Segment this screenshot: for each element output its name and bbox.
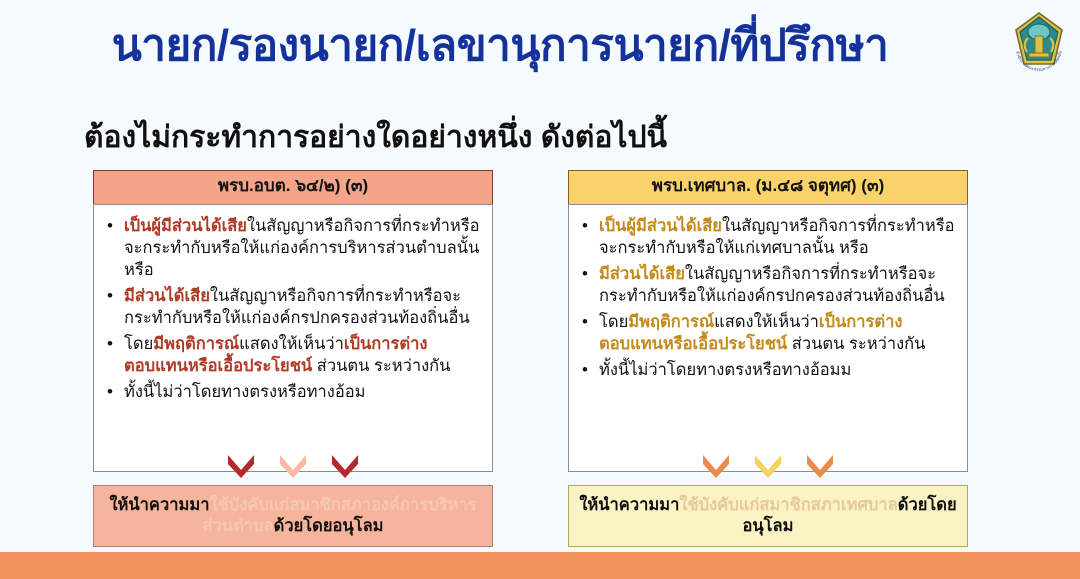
chevron-down-icon bbox=[805, 452, 835, 478]
chevron-group-right bbox=[568, 450, 968, 480]
list-item: มีส่วนได้เสียในสัญญาหรือกิจการที่กระทำหร… bbox=[124, 286, 482, 330]
callout-left-text: ให้นำความมาใช้บังคับแก่สมาชิกสภาองค์การบ… bbox=[102, 495, 484, 538]
bottom-accent-bar bbox=[0, 552, 1080, 579]
chevron-down-icon bbox=[330, 452, 360, 478]
bullet-list-left: เป็นผู้มีส่วนได้เสียในสัญญาหรือกิจการที่… bbox=[100, 216, 482, 404]
chevron-down-icon bbox=[278, 452, 308, 478]
list-item: โดยมีพฤติการณ์แสดงให้เห็นว่าเป็นการต่างต… bbox=[599, 312, 957, 356]
callout-right-text: ให้นำความมาใช้บังคับแก่สมาชิกสภาเทศบาลด้… bbox=[577, 495, 959, 538]
list-item: ทั้งนี้ไม่ว่าโดยทางตรงหรือทางอ้อม bbox=[124, 382, 482, 404]
page-title: นายก/รองนายก/เลขานุการนายก/ที่ปรึกษา bbox=[0, 22, 1000, 70]
body-text: โดย bbox=[124, 335, 153, 353]
list-item: เป็นผู้มีส่วนได้เสียในสัญญาหรือกิจการที่… bbox=[599, 216, 957, 260]
body-text: ทั้งนี้ไม่ว่าโดยทางตรงหรือทางอ้อมม bbox=[599, 361, 851, 379]
highlight-text: มีส่วนได้เสีย bbox=[599, 265, 685, 283]
card-right-header: พรบ.เทศบาล. (ม.๔๘ จตุทศ) (๓) bbox=[568, 170, 968, 204]
callout-emphasis: ให้นำความมา bbox=[579, 496, 679, 514]
card-left-body: เป็นผู้มีส่วนได้เสียในสัญญาหรือกิจการที่… bbox=[93, 204, 493, 472]
slide-canvas: สำนักงานคณะกรรมการการเลือกตั้ง นายก/รองน… bbox=[0, 0, 1080, 579]
chevron-group-left bbox=[93, 450, 493, 480]
chevron-down-icon bbox=[701, 452, 731, 478]
list-item: เป็นผู้มีส่วนได้เสียในสัญญาหรือกิจการที่… bbox=[124, 216, 482, 282]
body-text: แสดงให้เห็นว่า bbox=[239, 335, 344, 353]
thai-government-emblem-icon: สำนักงานคณะกรรมการการเลือกตั้ง bbox=[1010, 8, 1068, 80]
callout-right: ให้นำความมาใช้บังคับแก่สมาชิกสภาเทศบาลด้… bbox=[568, 485, 968, 547]
highlight-text: เป็นผู้มีส่วนได้เสีย bbox=[599, 217, 722, 235]
list-item: โดยมีพฤติการณ์แสดงให้เห็นว่าเป็นการต่างต… bbox=[124, 334, 482, 378]
body-text: ทั้งนี้ไม่ว่าโดยทางตรงหรือทางอ้อม bbox=[124, 383, 366, 401]
card-right-body: เป็นผู้มีส่วนได้เสียในสัญญาหรือกิจการที่… bbox=[568, 204, 968, 472]
chevron-down-icon bbox=[753, 452, 783, 478]
page-subtitle: ต้องไม่กระทำการอย่างใดอย่างหนึ่ง ดังต่อไ… bbox=[84, 121, 667, 154]
callout-faded-text: ใช้บังคับแก่สมาชิกสภาเทศบาล bbox=[679, 496, 897, 514]
highlight-text: มีส่วนได้เสีย bbox=[124, 287, 210, 305]
card-left: พรบ.อบต. ๖๔/๒) (๓) เป็นผู้มีส่วนได้เสียใ… bbox=[93, 170, 493, 472]
highlight-text: มีพฤติการณ์ bbox=[628, 313, 714, 331]
chevron-down-icon bbox=[226, 452, 256, 478]
callout-emphasis: ด้วยโดยอนุโลม bbox=[274, 517, 384, 535]
body-text: ส่วนตน ระหว่างกัน bbox=[312, 357, 450, 375]
list-item: มีส่วนได้เสียในสัญญาหรือกิจการที่กระทำหร… bbox=[599, 264, 957, 308]
callout-emphasis: ให้นำความมา bbox=[109, 496, 209, 514]
highlight-text: เป็นผู้มีส่วนได้เสีย bbox=[124, 217, 247, 235]
card-left-header: พรบ.อบต. ๖๔/๒) (๓) bbox=[93, 170, 493, 204]
bullet-list-right: เป็นผู้มีส่วนได้เสียในสัญญาหรือกิจการที่… bbox=[575, 216, 957, 382]
body-text: โดย bbox=[599, 313, 628, 331]
highlight-text: มีพฤติการณ์ bbox=[153, 335, 239, 353]
body-text: ส่วนตน ระหว่างกัน bbox=[787, 335, 925, 353]
body-text: แสดงให้เห็นว่า bbox=[714, 313, 819, 331]
callout-left: ให้นำความมาใช้บังคับแก่สมาชิกสภาองค์การบ… bbox=[93, 485, 493, 547]
list-item: ทั้งนี้ไม่ว่าโดยทางตรงหรือทางอ้อมม bbox=[599, 360, 957, 382]
card-right: พรบ.เทศบาล. (ม.๔๘ จตุทศ) (๓) เป็นผู้มีส่… bbox=[568, 170, 968, 472]
